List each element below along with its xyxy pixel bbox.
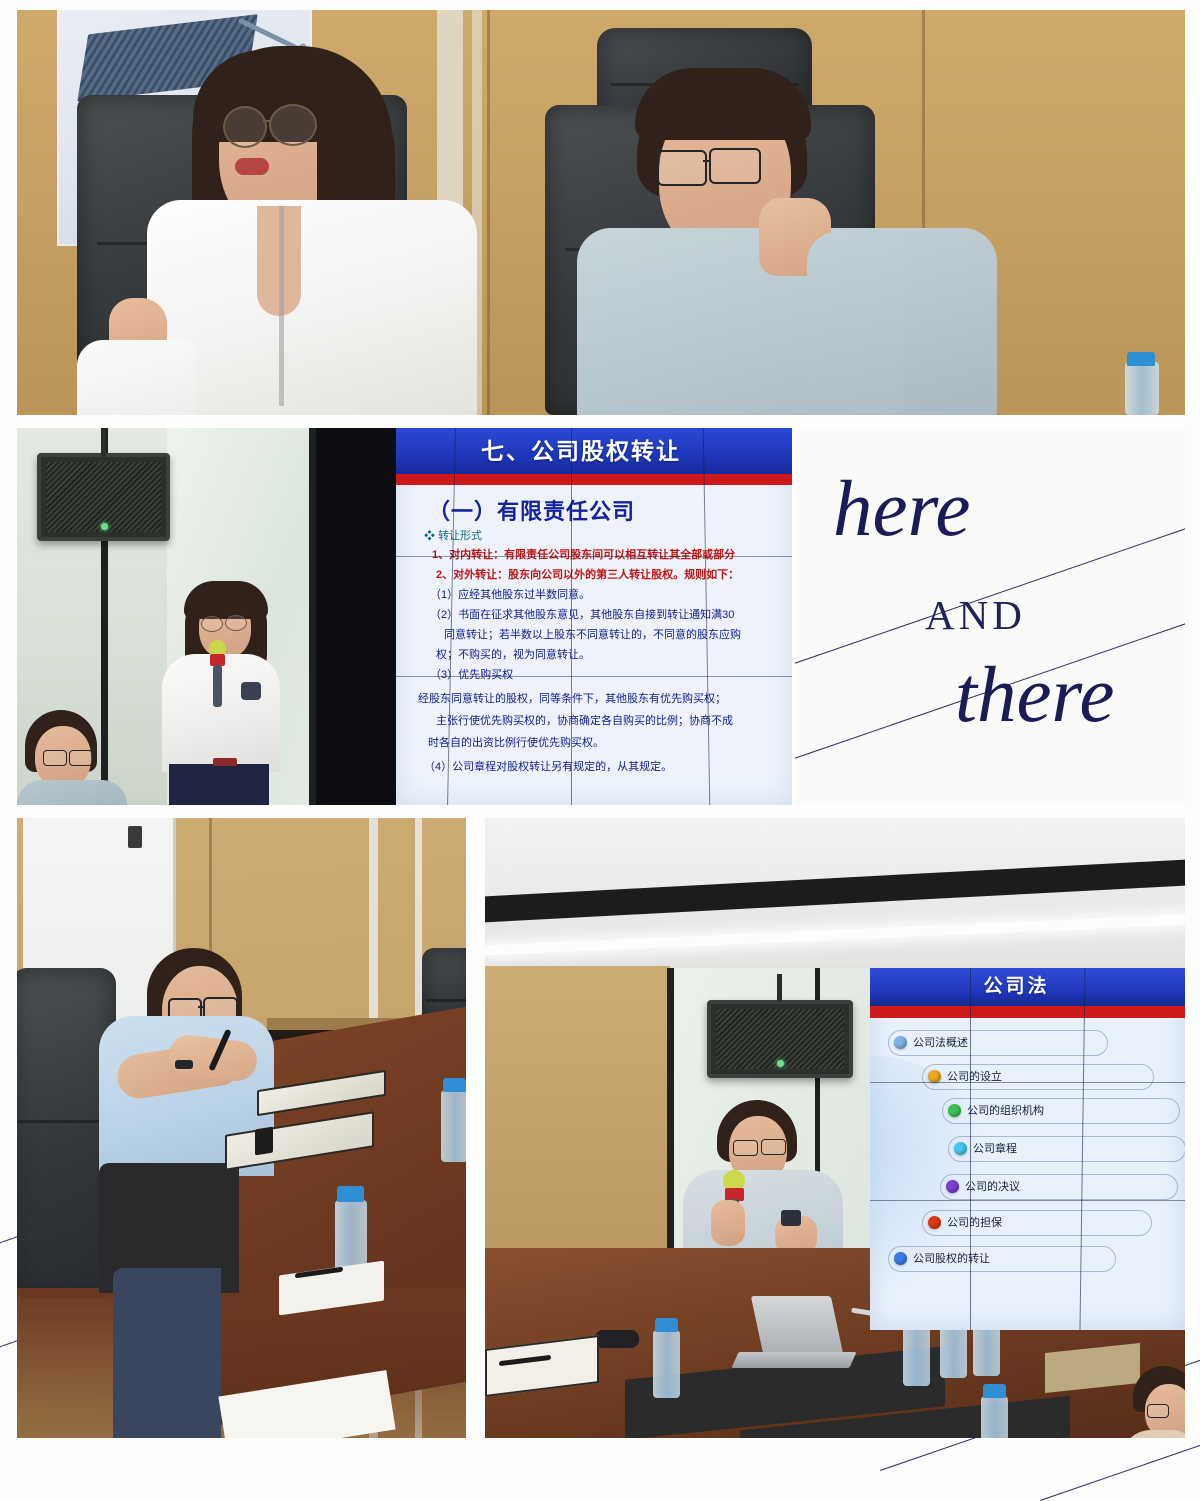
slide-line-5: 同意转让；若半数以上股东不同意转让的，不同意的股东应购 xyxy=(444,626,741,642)
bullet-dot-icon xyxy=(894,1036,907,1049)
slide-line-4: （2）书面在征求其他股东意见，其他股东自接到转让通知满30 xyxy=(430,606,734,622)
ceiling-speaker-icon xyxy=(707,1000,853,1078)
photo-woman-presenting: 七、公司股权转让 （一）有限责任公司 ❖ 转让形式 1、对内转让：有限责任公司股… xyxy=(17,428,792,805)
agenda-item-6: 公司股权的转让 xyxy=(894,1250,990,1266)
headline-word-here: here xyxy=(833,470,970,549)
slide-company-law-agenda: 公司法 公司法概述 公司的设立 公司的组织机构 xyxy=(870,968,1185,1330)
slide-line-7: （3）优先购买权 xyxy=(430,666,513,682)
bullet-dot-icon xyxy=(948,1104,961,1117)
photo-presenter-video-wall: 公司法 公司法概述 公司的设立 公司的组织机构 xyxy=(485,818,1185,1438)
bullet-dot-icon xyxy=(928,1070,941,1083)
bullet-dot-icon xyxy=(928,1216,941,1229)
headline-word-and: AND xyxy=(925,591,1026,639)
bullet-dot-icon xyxy=(954,1142,967,1155)
bullet-marker-icon: ❖ xyxy=(424,530,435,542)
laptop xyxy=(751,1296,843,1354)
slide-heading: （一）有限责任公司 xyxy=(428,494,635,526)
headline-word-there: there xyxy=(955,656,1114,735)
slide-line-6: 权；不购买的，视为同意转让。 xyxy=(436,646,590,662)
photo-man-with-pen xyxy=(17,818,466,1438)
slide-equity-transfer: 七、公司股权转让 （一）有限责任公司 ❖ 转让形式 1、对内转让：有限责任公司股… xyxy=(396,428,792,805)
agenda-item-3: 公司章程 xyxy=(954,1140,1017,1156)
agenda-title: 公司法 xyxy=(870,968,1185,1006)
agenda-item-0: 公司法概述 xyxy=(894,1034,968,1050)
photo-meeting-two-people xyxy=(17,10,1185,415)
collage-page: 七、公司股权转让 （一）有限责任公司 ❖ 转让形式 1、对内转让：有限责任公司股… xyxy=(0,0,1200,1455)
slide-line-2: 2、对外转让：股东向公司以外的第三人转让股权。规则如下： xyxy=(436,566,739,582)
slide-line-9: 主张行使优先购买权的，协商确定各自购买的比例；协商不成 xyxy=(436,712,733,728)
slide-line-10: 时各自的出资比例行使优先购买权。 xyxy=(428,734,604,750)
here-and-there-headline: here AND there xyxy=(795,428,1185,805)
bullet-dot-icon xyxy=(894,1252,907,1265)
agenda-item-4: 公司的决议 xyxy=(946,1178,1020,1194)
bullet-dot-icon xyxy=(946,1180,959,1193)
slide-line-11: （4）公司章程对股权转让另有规定的，从其规定。 xyxy=(424,758,672,774)
ceiling-speaker-icon xyxy=(37,453,170,541)
slide-line-1: 1、对内转让：有限责任公司股东间可以相互转让其全部或部分 xyxy=(432,546,735,562)
agenda-item-5: 公司的担保 xyxy=(928,1214,1002,1230)
slide-line-3: （1）应经其他股东过半数同意。 xyxy=(430,586,590,602)
agenda-item-2: 公司的组织机构 xyxy=(948,1102,1044,1118)
